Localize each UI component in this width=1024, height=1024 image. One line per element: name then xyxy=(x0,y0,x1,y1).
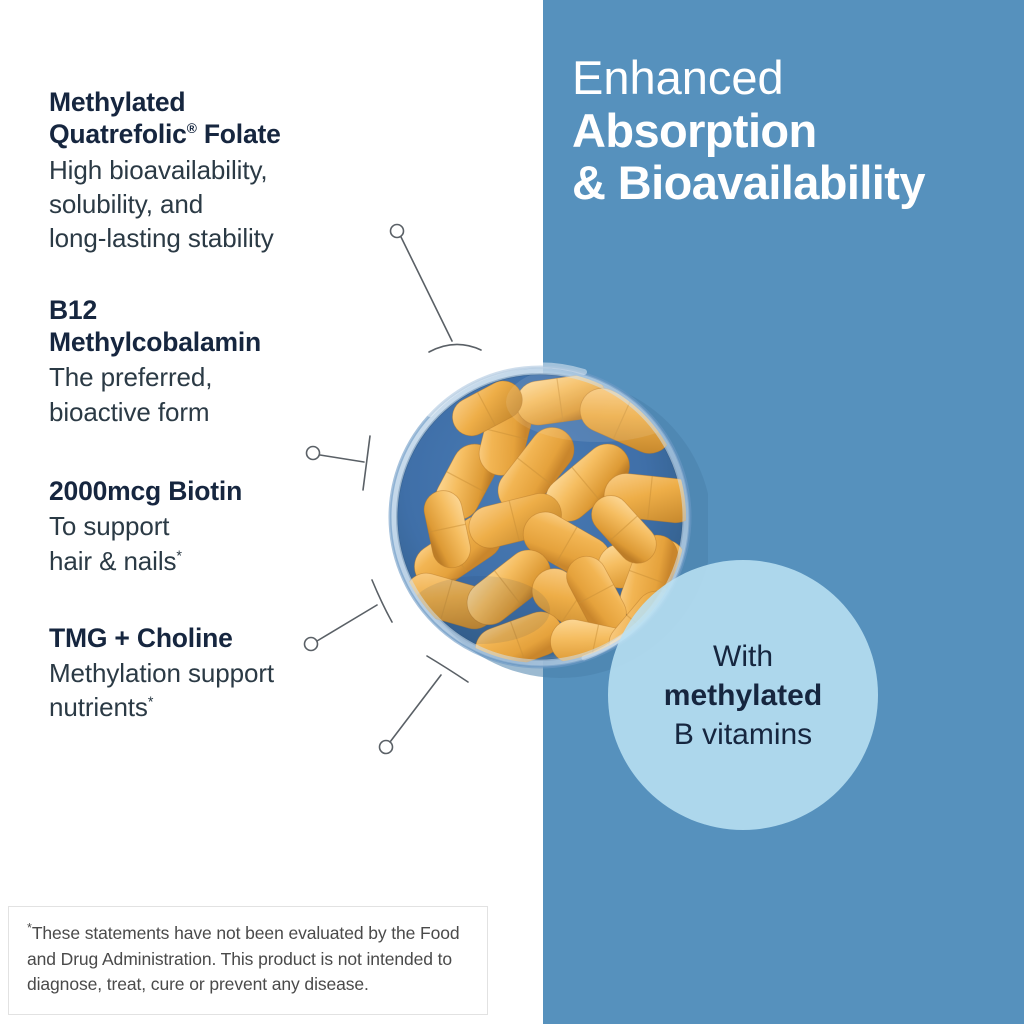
feature-tmg-choline: TMG + Choline Methylation supportnutrien… xyxy=(49,622,449,725)
badge-methylated-b-vitamins: With methylated B vitamins xyxy=(608,560,878,830)
feature-desc-line1: Methylation support xyxy=(49,658,274,688)
badge-line-methylated: methylated xyxy=(664,676,822,715)
badge-line-with: With xyxy=(713,637,773,676)
headline: Enhanced Absorption & Bioavailability xyxy=(572,52,1012,210)
feature-desc-line2: solubility, and xyxy=(49,189,203,219)
fda-disclaimer-body: These statements have not been evaluated… xyxy=(27,923,460,994)
feature-list: MethylatedQuatrefolic® Folate High bioav… xyxy=(49,86,449,725)
headline-line-enhanced: Enhanced xyxy=(572,52,1012,105)
feature-description: To supporthair & nails* xyxy=(49,509,449,578)
feature-b12-methylcobalamin: B12Methylcobalamin The preferred,bioacti… xyxy=(49,294,449,429)
feature-description: The preferred,bioactive form xyxy=(49,360,449,429)
feature-description: Methylation supportnutrients* xyxy=(49,656,449,725)
feature-title-line1: Methylated xyxy=(49,87,185,117)
feature-quatrefolic-folate: MethylatedQuatrefolic® Folate High bioav… xyxy=(49,86,449,256)
headline-line-bioavailability: & Bioavailability xyxy=(572,157,1012,210)
feature-description: High bioavailability,solubility, andlong… xyxy=(49,153,449,256)
feature-desc-line2: nutrients xyxy=(49,692,148,722)
feature-title: 2000mcg Biotin xyxy=(49,475,449,507)
feature-title: TMG + Choline xyxy=(49,622,449,654)
fda-disclaimer-box: *These statements have not been evaluate… xyxy=(8,906,488,1015)
feature-desc-line3: long-lasting stability xyxy=(49,223,274,253)
asterisk-mark-icon: * xyxy=(148,695,153,711)
feature-title-line1: 2000mcg Biotin xyxy=(49,476,242,506)
feature-title-line2: Methylcobalamin xyxy=(49,327,261,357)
fda-disclaimer-text: *These statements have not been evaluate… xyxy=(27,921,469,998)
feature-title-line1: TMG + Choline xyxy=(49,623,233,653)
feature-title-line2-tail: Folate xyxy=(197,119,281,149)
badge-line-b-vitamins: B vitamins xyxy=(674,715,812,754)
feature-title-line1: B12 xyxy=(49,295,97,325)
feature-desc-line2: bioactive form xyxy=(49,397,209,427)
feature-title: B12Methylcobalamin xyxy=(49,294,449,359)
feature-desc-line2: hair & nails xyxy=(49,546,176,576)
feature-biotin: 2000mcg Biotin To supporthair & nails* xyxy=(49,475,449,578)
feature-title-line2: Quatrefolic xyxy=(49,119,187,149)
feature-desc-line1: High bioavailability, xyxy=(49,155,268,185)
asterisk-mark-icon: * xyxy=(176,548,181,564)
feature-desc-line1: The preferred, xyxy=(49,362,212,392)
headline-line-absorption: Absorption xyxy=(572,105,1012,158)
feature-title: MethylatedQuatrefolic® Folate xyxy=(49,86,449,151)
feature-desc-line1: To support xyxy=(49,511,169,541)
infographic-canvas: MethylatedQuatrefolic® Folate High bioav… xyxy=(0,0,1024,1024)
registered-mark-icon: ® xyxy=(187,122,197,137)
